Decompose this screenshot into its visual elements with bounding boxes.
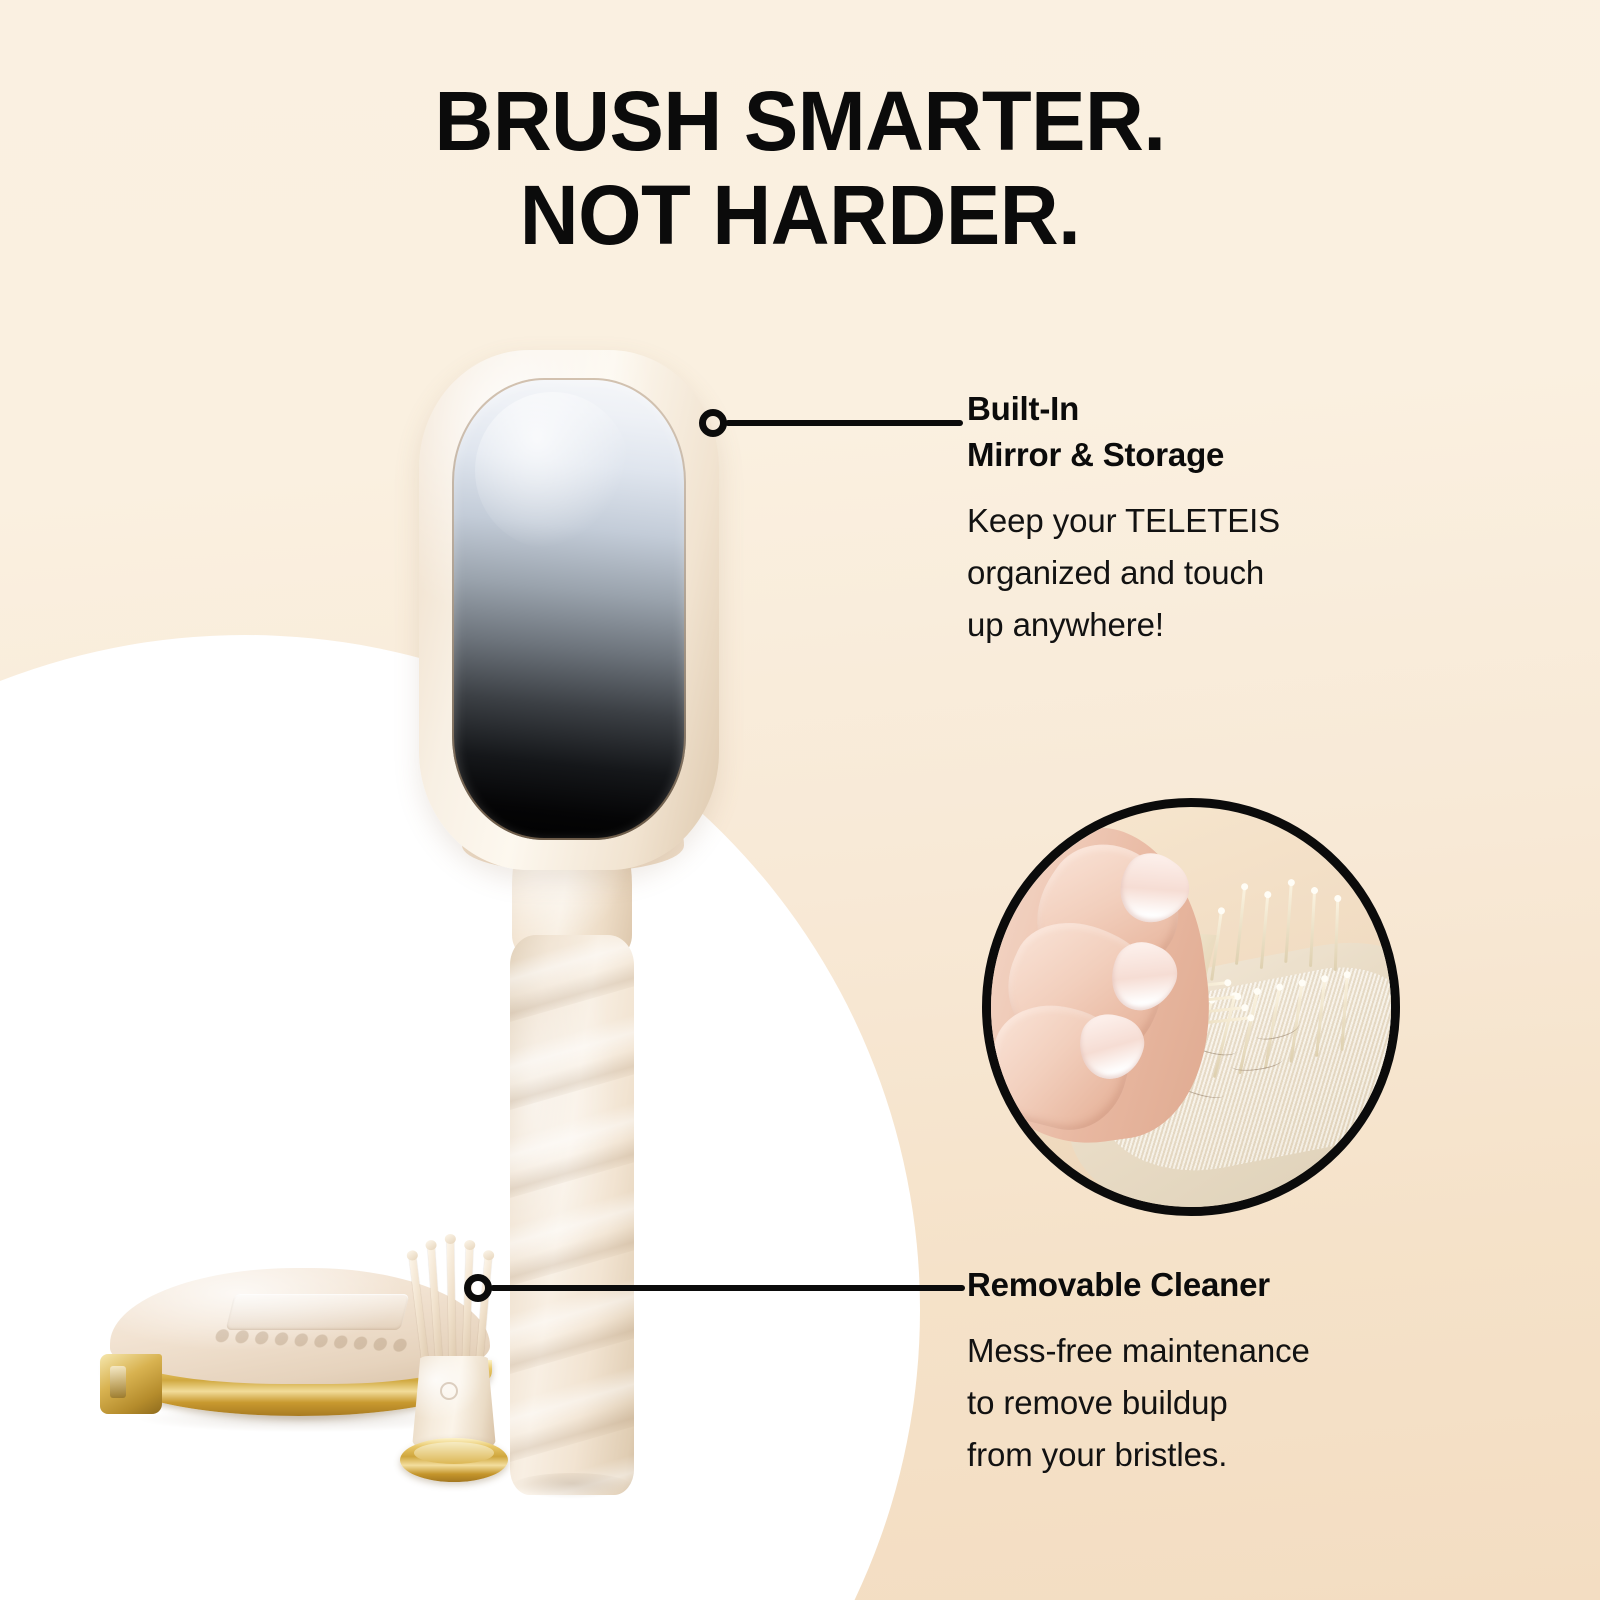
callout-title-line-1: Removable Cleaner xyxy=(967,1262,1487,1308)
handle-base-shadow xyxy=(512,1473,632,1499)
leader-line-cleaner xyxy=(490,1285,965,1291)
callout-title-line-2: Mirror & Storage xyxy=(967,432,1487,478)
page-title: BRUSH SMARTER. NOT HARDER. xyxy=(24,74,1576,262)
leader-dot-cleaner xyxy=(464,1274,492,1302)
headline-line-1: BRUSH SMARTER. xyxy=(24,74,1576,168)
mirror-glass xyxy=(452,378,686,840)
cleaner-gold-base xyxy=(400,1438,508,1482)
callout-body: Keep your TELETEIS organized and touch u… xyxy=(967,495,1487,651)
leader-line-mirror xyxy=(725,420,963,426)
mirror-frame xyxy=(419,350,719,870)
compact-emboss xyxy=(226,1294,410,1330)
callout-built-in-mirror-storage: Built-In Mirror & Storage Keep your TELE… xyxy=(967,386,1487,651)
mirror-sheen xyxy=(475,392,629,549)
removable-cleaner-tool xyxy=(388,1178,518,1488)
cleaner-body xyxy=(412,1356,496,1448)
callout-body-line-1: Mess-free maintenance xyxy=(967,1325,1487,1377)
callout-title-line-1: Built-In xyxy=(967,386,1487,432)
callout-body-line-2: to remove buildup xyxy=(967,1377,1487,1429)
callout-body-line-2: organized and touch xyxy=(967,547,1487,599)
leader-dot-mirror xyxy=(699,409,727,437)
callout-removable-cleaner: Removable Cleaner Mess-free maintenance … xyxy=(967,1262,1487,1481)
handle-grip-twisted xyxy=(510,935,634,1495)
compact-hinge xyxy=(100,1354,162,1414)
headline-line-2: NOT HARDER. xyxy=(24,168,1576,262)
callout-body-line-1: Keep your TELETEIS xyxy=(967,495,1487,547)
callout-title: Built-In Mirror & Storage xyxy=(967,386,1487,478)
cleaner-mark xyxy=(440,1382,458,1400)
product-infographic: BRUSH SMARTER. NOT HARDER. xyxy=(0,0,1600,1600)
callout-body: Mess-free maintenance to remove buildup … xyxy=(967,1325,1487,1481)
compact-hinge-slot xyxy=(110,1366,126,1398)
cleaner-in-use-photo xyxy=(982,798,1400,1216)
callout-body-line-3: up anywhere! xyxy=(967,599,1487,651)
callout-title: Removable Cleaner xyxy=(967,1262,1487,1308)
callout-body-line-3: from your bristles. xyxy=(967,1429,1487,1481)
